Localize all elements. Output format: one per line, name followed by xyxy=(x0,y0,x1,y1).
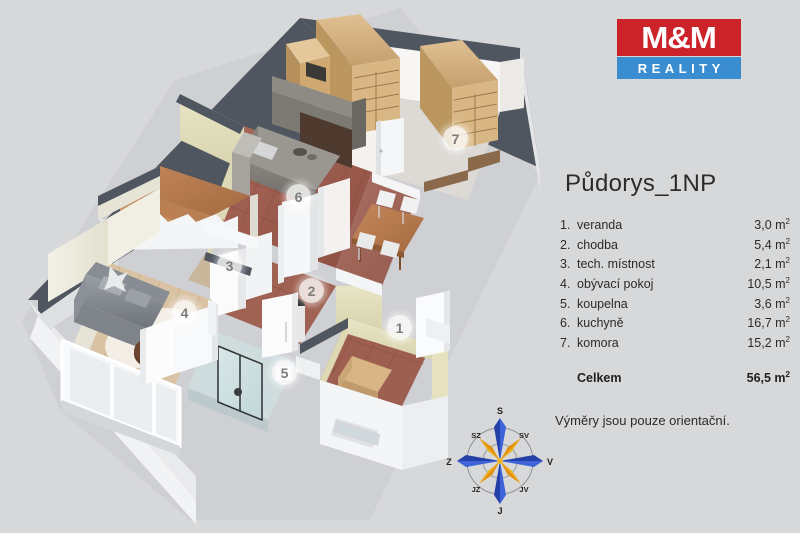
room-area: 3,0 m2 xyxy=(734,214,790,234)
floorplan-page: 1 2 3 4 5 6 7 M&M REALITY Půdorys_1NP 1.… xyxy=(0,0,800,533)
room-area: 5,4 m2 xyxy=(734,234,790,254)
logo-reality-block: REALITY xyxy=(617,57,741,79)
compass-label-nw: SZ xyxy=(471,431,481,440)
room-index: 4. xyxy=(560,276,577,293)
room-marker-1[interactable]: 1 xyxy=(387,315,412,340)
room-list-item: 7. komora 15,2 m2 xyxy=(560,332,790,352)
compass-label-s: J xyxy=(497,506,502,514)
room-marker-2[interactable]: 2 xyxy=(299,278,324,303)
room-area: 16,7 m2 xyxy=(734,312,790,332)
room-area: 10,5 m2 xyxy=(734,273,790,293)
room-list-item: 2. chodba 5,4 m2 xyxy=(560,234,790,254)
room-index: 3. xyxy=(560,256,577,273)
logo-mm-text: M&M xyxy=(642,22,717,53)
compass-label-sw: JZ xyxy=(472,485,481,494)
mm-reality-logo: M&M REALITY xyxy=(617,19,741,79)
compass-label-se: JV xyxy=(519,485,528,494)
page-title: Půdorys_1NP xyxy=(565,170,790,198)
room-marker-6[interactable]: 6 xyxy=(286,184,311,209)
room-list-item: 4. obývací pokoj 10,5 m2 xyxy=(560,273,790,293)
info-panel: Půdorys_1NP 1. veranda 3,0 m2 2. chodba … xyxy=(560,170,790,428)
room-index: 6. xyxy=(560,315,577,332)
room-marker-7[interactable]: 7 xyxy=(443,126,468,151)
room-index: 5. xyxy=(560,296,577,313)
room-list-item: 3. tech. místnost 2,1 m2 xyxy=(560,253,790,273)
room-list-item: 1. veranda 3,0 m2 xyxy=(560,214,790,234)
room-name: veranda xyxy=(577,217,734,234)
room-index: 7. xyxy=(560,335,577,352)
compass-label-ne: SV xyxy=(519,431,529,440)
room-marker-4[interactable]: 4 xyxy=(172,300,197,325)
room-list: 1. veranda 3,0 m2 2. chodba 5,4 m2 3. te… xyxy=(560,214,790,352)
room-list-item: 6. kuchyně 16,7 m2 xyxy=(560,312,790,332)
room-name: koupelna xyxy=(577,296,734,313)
room-area: 2,1 m2 xyxy=(734,253,790,273)
compass-label-e: V xyxy=(547,457,553,467)
logo-mm-block: M&M xyxy=(617,19,741,56)
room-name: komora xyxy=(577,335,734,352)
compass-label-w: Z xyxy=(446,457,452,467)
total-row: Celkem 56,5 m2 xyxy=(560,370,790,385)
room-index: 2. xyxy=(560,237,577,254)
disclaimer-note: Výměry jsou pouze orientační. xyxy=(555,413,790,428)
compass-rose: S J Z V SZ SV JZ JV xyxy=(445,404,555,514)
room-marker-3[interactable]: 3 xyxy=(217,253,242,278)
room-index: 1. xyxy=(560,217,577,234)
room-name: chodba xyxy=(577,237,734,254)
total-label: Celkem xyxy=(577,371,734,385)
compass-label-n: S xyxy=(497,406,503,416)
room-marker-5[interactable]: 5 xyxy=(272,360,297,385)
room-name: obývací pokoj xyxy=(577,276,734,293)
room-name: kuchyně xyxy=(577,315,734,332)
room-area: 15,2 m2 xyxy=(734,332,790,352)
room-area: 3,6 m2 xyxy=(734,293,790,313)
room-name: tech. místnost xyxy=(577,256,734,273)
room-list-item: 5. koupelna 3,6 m2 xyxy=(560,293,790,313)
logo-reality-text: REALITY xyxy=(633,62,725,75)
total-area: 56,5 m2 xyxy=(734,370,790,385)
compass-svg: S J Z V SZ SV JZ JV xyxy=(445,404,555,514)
